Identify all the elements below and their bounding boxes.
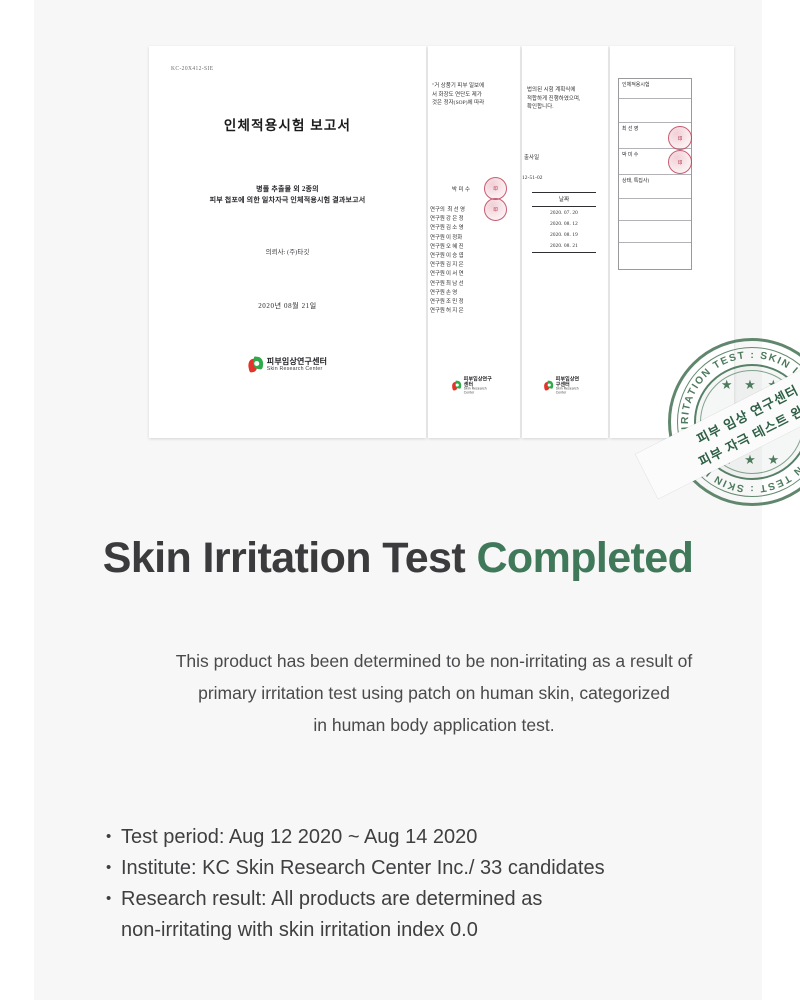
skin-research-center-logo: 피부임상연구센터 Skin Research Center <box>452 376 494 395</box>
researcher-name: 김 소 영 <box>446 225 464 231</box>
page3-paragraph-line-3: 확인합니다. <box>527 103 581 112</box>
red-ink-seal-4: 印 <box>668 150 692 174</box>
form-row-blank <box>619 199 691 221</box>
researcher-leader-label: 연구의 <box>430 206 446 215</box>
researcher-label: 연구원 <box>430 298 446 307</box>
red-ink-seal-1: 印 <box>484 177 507 200</box>
report-date: 2020년 08월 21일 <box>149 301 426 311</box>
logo-text: 피부임상연구센터 Skin Research Center <box>556 376 584 395</box>
logo-text-ko: 피부임상연구센터 <box>556 376 584 387</box>
page3-paragraph-line-2: 적합하게 진행하였으며, <box>527 95 581 104</box>
list-item-text: Institute: KC Skin Research Center Inc./… <box>121 857 605 879</box>
researcher-leader: 연구의 최 선 영 <box>430 206 465 215</box>
researcher-row: 연구원강 은 정 <box>430 215 465 224</box>
description-line-1: This product has been determined to be n… <box>94 645 774 677</box>
logo-text: 피부임상연구센터 Skin Research Center <box>267 357 327 372</box>
red-ink-seal-3: 印 <box>668 126 692 150</box>
researcher-name: 최 남 선 <box>446 281 464 287</box>
researcher-name: 오 혜 진 <box>446 244 464 250</box>
report-subtitle-line-1: 병풀 추출물 외 2종의 <box>149 184 426 195</box>
page2-paragraph: "거 상품기 피부 일보에 서 화장도 연단도 제가 것은 정자(SOP)에 따… <box>432 82 484 108</box>
signature-form-table: 인체적용시험 최 선 영 박 미 수 상태, 특집사) <box>618 78 692 270</box>
list-item-text: Test period: Aug 12 2020 ~ Aug 14 2020 <box>121 826 477 848</box>
researcher-row: 연구원이 승 엽 <box>430 252 465 261</box>
researcher-row: 연구원김 소 영 <box>430 224 465 233</box>
logo-text-en: Skin Research Center <box>267 366 327 372</box>
page3-ref-code: 12-51-02 <box>522 174 543 183</box>
date-table-header: 날짜 <box>532 192 596 207</box>
page2-signer: 박 미 수 <box>452 186 470 195</box>
researcher-row: 연구원이 정화 <box>430 234 465 243</box>
date-table-row: 2020. 07. 20 <box>532 207 596 218</box>
researcher-label: 연구원 <box>430 252 446 261</box>
page3-paragraph: 법의된 시험 계획식에 적합하게 진행하였으며, 확인합니다. <box>527 86 581 112</box>
researcher-row: 연구원손 영 <box>430 289 465 298</box>
researcher-label: 연구원 <box>430 307 446 316</box>
report-title: 인체적용시험 보고서 <box>149 114 426 134</box>
red-ink-seal-2: 印 <box>484 198 507 221</box>
form-row-header: 인체적용시험 <box>619 79 691 99</box>
description-line-3: in human body application test. <box>94 709 774 741</box>
researcher-label: 연구원 <box>430 215 446 224</box>
kc-leaf-icon <box>544 380 554 391</box>
page2-paragraph-line-2: 서 화장도 연단도 제가 <box>432 91 484 100</box>
researcher-name: 이 승 엽 <box>446 253 464 259</box>
report-document-image: KC-20X412-SIE 인체적용시험 보고서 병풀 추출물 외 2종의 피부… <box>149 46 734 438</box>
researcher-row: 연구원최 남 선 <box>430 280 465 289</box>
date-table: 날짜 2020. 07. 20 2020. 08. 12 2020. 08. 1… <box>532 192 596 254</box>
page-title: Skin Irritation Test Completed <box>34 532 762 584</box>
list-item: Test period: Aug 12 2020 ~ Aug 14 2020 <box>106 822 746 853</box>
logo-text-en: Skin Research Center <box>556 387 584 394</box>
researcher-label: 연구원 <box>430 243 446 252</box>
researcher-row: 연구원이 서 연 <box>430 270 465 279</box>
date-table-row: 2020. 08. 12 <box>532 218 596 229</box>
form-row-note: 상태, 특집사) <box>619 175 691 199</box>
logo-text-en: Skin Research Center <box>464 387 494 394</box>
form-row-blank <box>619 243 691 267</box>
page3-paragraph-line-1: 법의된 시험 계획식에 <box>527 86 581 95</box>
content-panel: KC-20X412-SIE 인체적용시험 보고서 병풀 추출물 외 2종의 피부… <box>34 0 762 1000</box>
skin-irritation-certification-stamp: IRRITATION TEST : SKIN IRRITATION IRRITA… <box>668 338 800 506</box>
kc-leaf-icon <box>248 356 264 373</box>
page3-ref-label: 출사일 <box>524 154 539 163</box>
researcher-label: 연구원 <box>430 261 446 270</box>
report-subtitle: 병풀 추출물 외 2종의 피부 첩포에 의한 일차자극 인체적용시험 결과보고서 <box>149 184 426 206</box>
logo-text-ko: 피부임상연구센터 <box>464 376 494 387</box>
researcher-name: 강 은 정 <box>446 216 464 222</box>
list-item: Institute: KC Skin Research Center Inc./… <box>106 853 746 884</box>
description-paragraph: This product has been determined to be n… <box>94 645 774 741</box>
list-item: Research result: All products are determ… <box>106 884 746 946</box>
logo-text-ko: 피부임상연구센터 <box>267 357 327 366</box>
researcher-row: 연구원오 혜 진 <box>430 243 465 252</box>
report-page-1: KC-20X412-SIE 인체적용시험 보고서 병풀 추출물 외 2종의 피부… <box>149 46 426 438</box>
kc-leaf-icon <box>452 380 462 391</box>
researcher-name: 손 영 <box>446 290 457 296</box>
researcher-label: 연구원 <box>430 280 446 289</box>
researcher-name: 허 지 은 <box>446 308 464 314</box>
researcher-name: 이 서 연 <box>446 271 464 277</box>
form-row-blank <box>619 99 691 123</box>
page-title-primary: Skin Irritation Test <box>103 534 465 582</box>
list-item-text-continued: non-irritating with skin irritation inde… <box>121 915 746 946</box>
description-line-2: primary irritation test using patch on h… <box>94 677 774 709</box>
list-item-text: Research result: All products are determ… <box>121 888 542 910</box>
skin-research-center-logo: 피부임상연구센터 Skin Research Center <box>544 376 584 395</box>
report-code: KC-20X412-SIE <box>171 66 213 72</box>
researcher-row: 연구원조 민 정 <box>430 298 465 307</box>
page2-researcher-list: 연구의 최 선 영 연구원강 은 정 연구원김 소 영 연구원이 정화 연구원오… <box>430 206 465 316</box>
researcher-name: 이 정화 <box>446 235 462 241</box>
report-subtitle-line-2: 피부 첩포에 의한 일차자극 인체적용시험 결과보고서 <box>149 195 426 206</box>
page-title-accent: Completed <box>476 534 693 582</box>
date-table-row: 2020. 08. 21 <box>532 241 596 252</box>
researcher-label: 연구원 <box>430 289 446 298</box>
researcher-row: 연구원허 지 은 <box>430 307 465 316</box>
researcher-name: 조 민 정 <box>446 299 464 305</box>
report-page-2: "거 상품기 피부 일보에 서 화장도 연단도 제가 것은 정자(SOP)에 따… <box>428 46 520 438</box>
test-details-list: Test period: Aug 12 2020 ~ Aug 14 2020 I… <box>106 822 746 946</box>
form-row-blank <box>619 221 691 243</box>
date-table-row: 2020. 08. 19 <box>532 229 596 240</box>
page2-paragraph-line-3: 것은 정자(SOP)에 따라 <box>432 99 484 108</box>
skin-research-center-logo: 피부임상연구센터 Skin Research Center <box>248 356 327 373</box>
researcher-label: 연구원 <box>430 234 446 243</box>
page2-paragraph-line-1: "거 상품기 피부 일보에 <box>432 82 484 91</box>
researcher-label: 연구원 <box>430 224 446 233</box>
report-page-3: 법의된 시험 계획식에 적합하게 진행하였으며, 확인합니다. 출사일 12-5… <box>522 46 608 438</box>
screenshot-root: KC-20X412-SIE 인체적용시험 보고서 병풀 추출물 외 2종의 피부… <box>0 0 800 1000</box>
researcher-row: 연구원김 지 은 <box>430 261 465 270</box>
researcher-name: 김 지 은 <box>446 262 464 268</box>
researcher-leader-name: 최 선 영 <box>447 207 465 213</box>
researcher-label: 연구원 <box>430 270 446 279</box>
report-client: 의뢰사: (주)타깃 <box>149 246 426 256</box>
logo-text: 피부임상연구센터 Skin Research Center <box>464 376 494 395</box>
